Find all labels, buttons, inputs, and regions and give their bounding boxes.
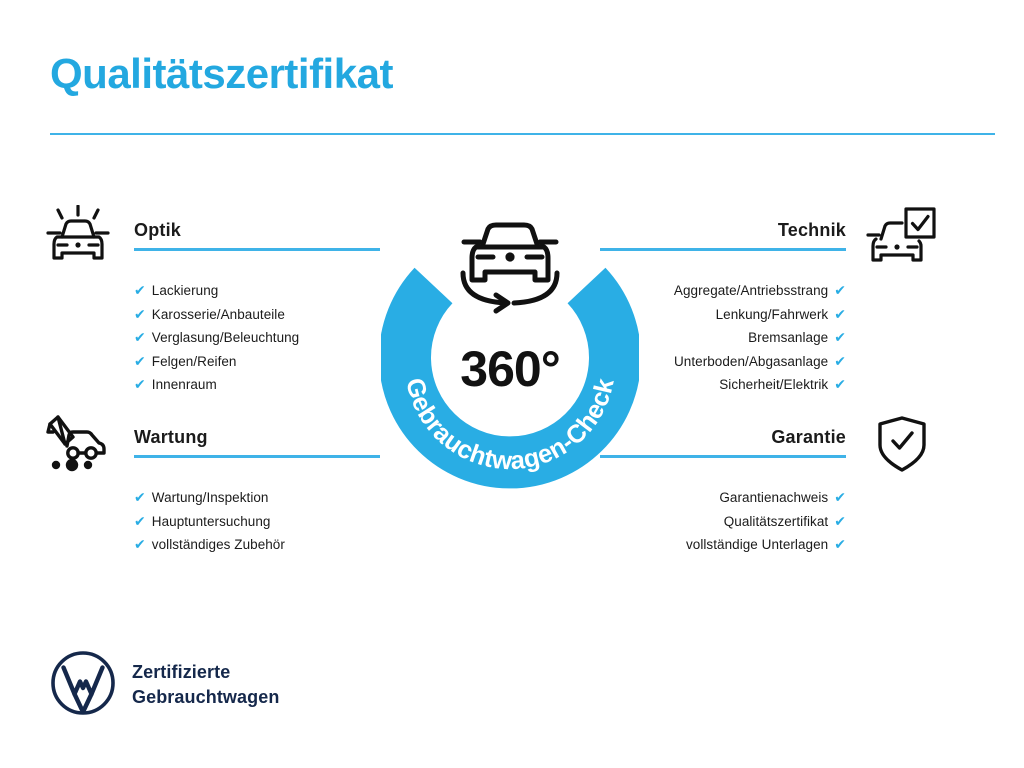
section-optik-title: Optik bbox=[134, 220, 181, 241]
list-item-label: Innenraum bbox=[152, 377, 217, 392]
section-garantie: Garantie Garantienachweis✔ Qualitätszert… bbox=[640, 412, 940, 470]
list-item-label: Bremsanlage bbox=[748, 330, 828, 345]
check-icon: ✔ bbox=[134, 373, 146, 397]
list-item: ✔Hauptuntersuchung bbox=[134, 510, 434, 534]
check-icon: ✔ bbox=[834, 303, 846, 327]
check-icon: ✔ bbox=[834, 533, 846, 557]
section-wartung: Wartung ✔Wartung/Inspektion ✔Hauptunters… bbox=[40, 412, 340, 470]
check-icon: ✔ bbox=[134, 303, 146, 327]
car-shine-icon bbox=[40, 205, 116, 269]
check-icon: ✔ bbox=[134, 510, 146, 534]
vw-certified-logo: Zertifizierte Gebrauchtwagen bbox=[50, 650, 380, 722]
list-item-label: Wartung/Inspektion bbox=[152, 490, 269, 505]
gebrauchtwagen-check-badge: Gebrauchtwagen-Check bbox=[381, 200, 639, 490]
check-icon: ✔ bbox=[834, 510, 846, 534]
check-icon: ✔ bbox=[834, 326, 846, 350]
list-item-label: Qualitätszertifikat bbox=[724, 514, 829, 529]
section-garantie-header: Garantie bbox=[640, 412, 940, 470]
vw-logo-icon bbox=[50, 650, 116, 716]
check-icon: ✔ bbox=[134, 326, 146, 350]
shield-check-icon bbox=[864, 412, 940, 476]
check-icon: ✔ bbox=[834, 350, 846, 374]
section-wartung-list: ✔Wartung/Inspektion ✔Hauptuntersuchung ✔… bbox=[134, 486, 434, 557]
section-optik-divider bbox=[134, 248, 380, 251]
check-icon: ✔ bbox=[834, 373, 846, 397]
check-icon: ✔ bbox=[834, 486, 846, 510]
section-wartung-title: Wartung bbox=[134, 427, 208, 448]
list-item: ✔vollständiges Zubehör bbox=[134, 533, 434, 557]
list-item-label: Karosserie/Anbauteile bbox=[152, 307, 285, 322]
vw-logo-line2: Gebrauchtwagen bbox=[132, 685, 279, 710]
certificate-page: Qualitätszertifikat bbox=[0, 0, 1024, 768]
title-divider bbox=[50, 133, 995, 135]
list-item-label: Sicherheit/Elektrik bbox=[719, 377, 828, 392]
list-item-label: Felgen/Reifen bbox=[152, 354, 237, 369]
check-icon: ✔ bbox=[134, 486, 146, 510]
list-item-label: Unterboden/Abgasanlage bbox=[674, 354, 828, 369]
list-item-label: Verglasung/Beleuchtung bbox=[152, 330, 299, 345]
car-checkbox-icon bbox=[864, 205, 940, 269]
page-title: Qualitätszertifikat bbox=[50, 50, 393, 98]
check-icon: ✔ bbox=[134, 279, 146, 303]
section-technik-title: Technik bbox=[778, 220, 846, 241]
list-item-label: Lenkung/Fahrwerk bbox=[716, 307, 829, 322]
list-item: vollständige Unterlagen✔ bbox=[546, 533, 846, 557]
vw-logo-line1: Zertifizierte bbox=[132, 660, 279, 685]
badge-center-value: 360° bbox=[381, 340, 639, 398]
list-item-label: vollständiges Zubehör bbox=[152, 537, 285, 552]
list-item-label: Garantienachweis bbox=[719, 490, 828, 505]
list-item-label: Aggregate/Antriebsstrang bbox=[674, 283, 828, 298]
service-book-pen-car-icon bbox=[40, 412, 116, 476]
list-item-label: vollständige Unterlagen bbox=[686, 537, 828, 552]
check-icon: ✔ bbox=[834, 279, 846, 303]
vw-logo-wordmark: Zertifizierte Gebrauchtwagen bbox=[132, 660, 279, 710]
section-technik: Technik Aggregate/Antriebsstrang✔ Lenkun… bbox=[640, 205, 940, 263]
section-wartung-header: Wartung bbox=[40, 412, 340, 470]
check-icon: ✔ bbox=[134, 350, 146, 374]
section-optik: Optik ✔Lackierung ✔Karosserie/Anbauteile… bbox=[40, 205, 340, 263]
list-item-label: Hauptuntersuchung bbox=[152, 514, 271, 529]
list-item: Qualitätszertifikat✔ bbox=[546, 510, 846, 534]
section-wartung-divider bbox=[134, 455, 380, 458]
section-technik-header: Technik bbox=[640, 205, 940, 263]
section-optik-header: Optik bbox=[40, 205, 340, 263]
section-garantie-title: Garantie bbox=[771, 427, 846, 448]
check-icon: ✔ bbox=[134, 533, 146, 557]
section-garantie-list: Garantienachweis✔ Qualitätszertifikat✔ v… bbox=[546, 486, 846, 557]
list-item-label: Lackierung bbox=[152, 283, 219, 298]
